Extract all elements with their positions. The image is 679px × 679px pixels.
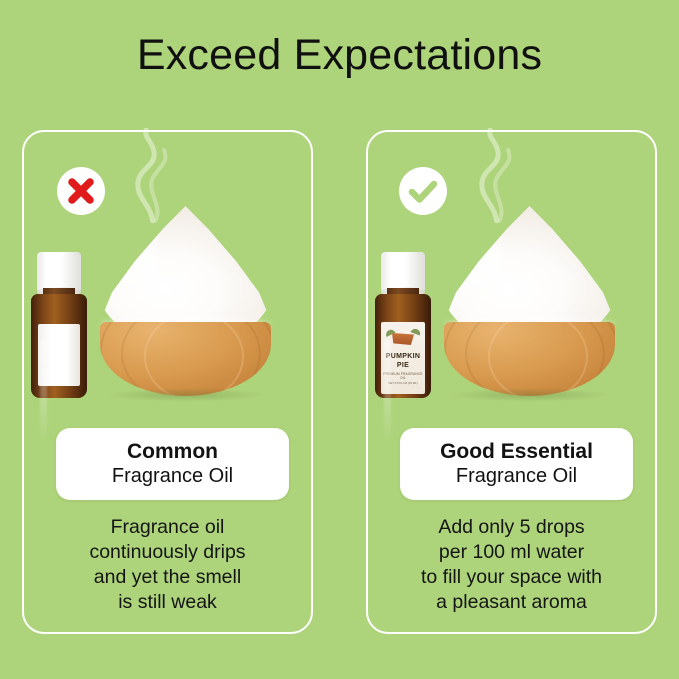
label-net-weight: NET 0.5 FL OZ (15 ML) (388, 381, 417, 385)
product-name-card-good-essential: Good Essential Fragrance Oil (400, 428, 633, 500)
diffuser-good-essential (442, 206, 617, 396)
diffuser-shadow (448, 388, 612, 402)
description-good-essential: Add only 5 drops per 100 ml water to fil… (366, 515, 657, 615)
bottle-highlight (384, 340, 391, 436)
infographic-stage: Exceed Expectations (0, 0, 679, 679)
bottle-body: PUMPKIN PIE PREMIUM FRAGRANCE OIL NET 0.… (375, 294, 431, 398)
description-line: to fill your space with (366, 565, 657, 590)
page-title: Exceed Expectations (0, 34, 679, 77)
description-line: and yet the smell (22, 565, 313, 590)
oil-bottle-good-essential: PUMPKIN PIE PREMIUM FRAGRANCE OIL NET 0.… (372, 252, 434, 400)
product-scene-good-essential: PUMPKIN PIE PREMIUM FRAGRANCE OIL NET 0.… (366, 200, 657, 415)
product-kind: Fragrance Oil (456, 464, 577, 489)
description-line: a pleasant aroma (366, 590, 657, 615)
bottle-body (31, 294, 87, 398)
diffuser-common (98, 206, 273, 396)
diffuser-shadow (104, 388, 268, 402)
description-line: is still weak (22, 590, 313, 615)
description-line: continuously drips (22, 540, 313, 565)
bottle-highlight (40, 340, 47, 436)
product-name-card-common: Common Fragrance Oil (56, 428, 289, 500)
description-line: Fragrance oil (22, 515, 313, 540)
oil-bottle-common (28, 252, 90, 400)
description-common: Fragrance oil continuously drips and yet… (22, 515, 313, 615)
diffuser-wood-base (100, 322, 271, 396)
product-brand: Common (127, 439, 218, 464)
diffuser-wood-base (444, 322, 615, 396)
product-brand: Good Essential (440, 439, 593, 464)
bottle-cap (381, 252, 425, 292)
label-name-line-2: PIE (397, 362, 409, 370)
product-scene-common (22, 200, 313, 415)
description-line: Add only 5 drops (366, 515, 657, 540)
bottle-cap (37, 252, 81, 292)
description-line: per 100 ml water (366, 540, 657, 565)
product-kind: Fragrance Oil (112, 464, 233, 489)
